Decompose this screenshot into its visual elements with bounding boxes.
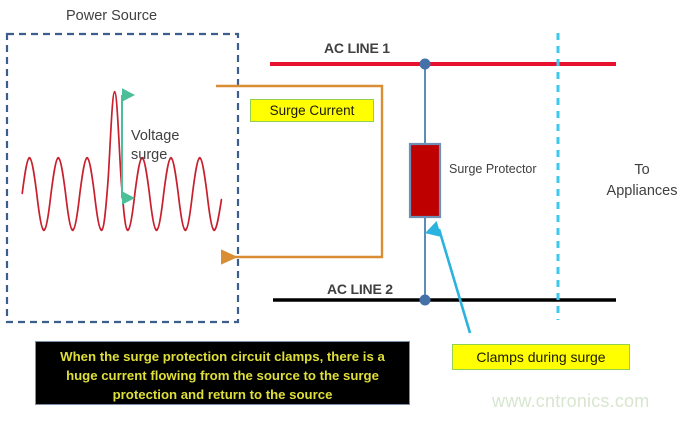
to-appliances-label: To Appliances [604, 160, 680, 202]
explanation-note-box: When the surge protection circuit clamps… [35, 341, 410, 405]
power-source-label: Power Source [66, 8, 157, 24]
watermark: www.cntronics.com [492, 391, 649, 412]
surge-protector-diagram: Power Source Voltage surge AC LINE 1 AC … [0, 0, 680, 424]
ac-line-2-label: AC LINE 2 [327, 281, 393, 297]
node-dot-line-1 [420, 59, 431, 70]
surge-protector-block[interactable] [410, 144, 440, 217]
node-dot-line-2 [420, 295, 431, 306]
clamps-during-surge-callout: Clamps during surge [452, 344, 630, 370]
voltage-surge-label: Voltage surge [131, 127, 201, 165]
clamp-pointer-arrow [439, 229, 470, 333]
ac-line-1-label: AC LINE 1 [324, 40, 390, 56]
surge-current-callout: Surge Current [250, 99, 374, 122]
surge-protector-label: Surge Protector [449, 162, 537, 176]
